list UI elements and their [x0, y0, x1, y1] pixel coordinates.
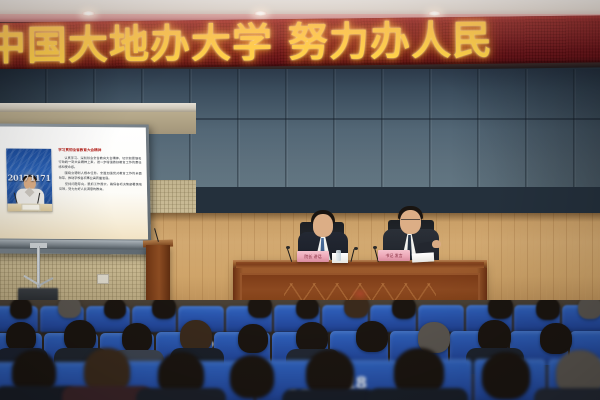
audience-head-foreground: [230, 355, 274, 398]
presentation-slide: 2017 1171 学习贯彻全省教育大会精神 认真学习、深刻领会全省教育大会精神…: [0, 126, 148, 239]
ceiling-downlight: [82, 11, 95, 16]
audience-head: [536, 300, 560, 320]
audience-head: [248, 300, 272, 318]
audience-shoulders-foreground: [368, 388, 468, 400]
slide-paragraph: 围绕立德树人根本任务，全面加强党对教育工作的全面领导，推动学校各项事业高质量发展…: [59, 171, 142, 180]
desk-microphone-head-icon: [286, 246, 290, 249]
water-bottle: [336, 250, 341, 261]
wainscot-top-shadow: [150, 213, 600, 222]
ceiling-downlight: [428, 11, 441, 16]
conference-hall-photo: 中国大地办大学 努力办人民: [0, 0, 600, 400]
projection-screen-surface: 2017 1171 学习贯彻全省教育大会精神 认真学习、深刻领会全省教育大会精神…: [0, 126, 148, 239]
audience-shoulders-foreground: [534, 388, 600, 400]
slide-title: 学习贯彻全省教育大会精神: [58, 148, 140, 153]
audience-head: [296, 300, 319, 319]
slide-photo-year-right: 1171: [30, 173, 51, 183]
audience-area: 22 20 19 21 19: [0, 300, 600, 400]
audience-head: [356, 321, 388, 352]
audience-head: [10, 300, 32, 319]
slide-speaker-nameplate: [21, 204, 40, 211]
audience-head: [152, 300, 176, 319]
audience-shoulders-foreground: [136, 388, 226, 400]
audience-head: [58, 300, 81, 318]
audience-head: [122, 323, 152, 353]
projection-screen-roller: [0, 239, 151, 249]
slide-paragraph: 坚持问题导向，狠抓工作落实，确保各项决策部署落地见效，努力办好人民满意的教育。: [59, 182, 142, 191]
slide-paragraph: 认真学习、深刻领会全省教育大会精神，切实把思想和行动统一到大会精神上来，进一步增…: [58, 156, 141, 169]
audience-head: [344, 300, 369, 318]
audience-shoulders-foreground: [282, 389, 376, 400]
ceiling-downlight: [254, 11, 267, 16]
audience-head: [392, 300, 416, 319]
wall-power-outlet: [97, 274, 109, 284]
wall-shadow-right: [450, 69, 600, 187]
official-right-hand: [432, 240, 441, 248]
official-right-glasses: [401, 219, 420, 224]
nameplate-left-text: 院长 讲话: [297, 251, 329, 262]
audience-head: [488, 300, 513, 319]
left-wall-dado-rail: [0, 103, 196, 112]
nameplate-right: 书记 发言: [378, 250, 410, 261]
slide-body-text: 认真学习、深刻领会全省教育大会精神，切实把思想和行动统一到大会精神上来，进一步增…: [58, 156, 142, 194]
slide-photo: 2017 1171: [6, 149, 52, 212]
nameplate-left: 院长 讲话: [297, 251, 329, 262]
audience-head: [578, 300, 600, 319]
audience-head: [540, 323, 572, 354]
lectern: [146, 245, 170, 305]
audience-head: [104, 300, 126, 319]
desk-papers: [412, 252, 434, 262]
nameplate-right-text: 书记 发言: [378, 250, 410, 261]
projection-screen: 2017 1171 学习贯彻全省教育大会精神 认真学习、深刻领会全省教育大会精神…: [0, 123, 151, 254]
official-left-head: [313, 214, 333, 237]
audience-head-foreground: [482, 352, 530, 399]
desk-microphone-head-icon: [354, 247, 358, 250]
audience-head: [238, 324, 268, 353]
desk-microphone-head-icon: [373, 246, 377, 249]
